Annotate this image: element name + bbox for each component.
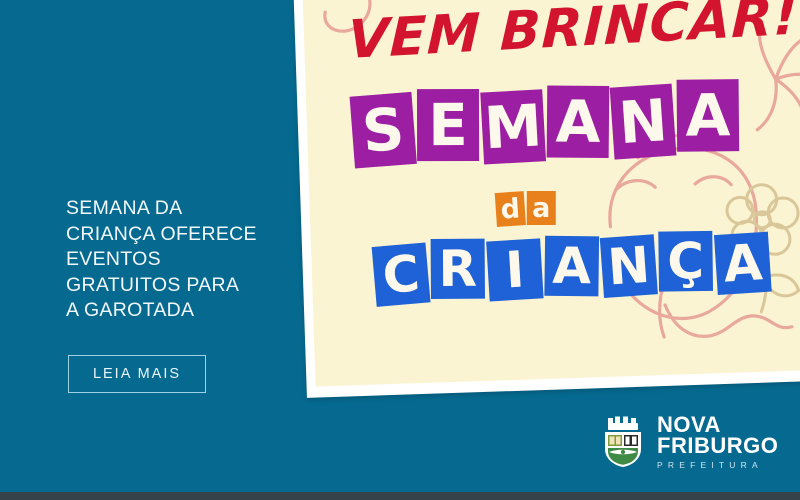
banner-stage: SEMANA DA CRIANÇA OFERECE EVENTOS GRATUI…: [0, 0, 800, 500]
letter-tile: A: [547, 85, 610, 158]
bottom-strip: [0, 492, 800, 500]
brand-subtitle: PREFEITURA: [657, 461, 778, 470]
letter-tile: R: [431, 239, 485, 299]
letter-tile: S: [350, 92, 417, 169]
poster-face: VEM BRINCAR! S E M A N A d a C R I A: [302, 0, 800, 387]
letter-tile: Ç: [658, 231, 713, 292]
promo-headline: SEMANA DA CRIANÇA OFERECE EVENTOS GRATUI…: [66, 196, 281, 324]
poster-artwork[interactable]: VEM BRINCAR! S E M A N A d a C R I A: [293, 0, 800, 398]
letter-tile: C: [372, 242, 431, 306]
letter-tile: A: [544, 236, 599, 297]
word-crianca: C R I A N Ç A: [373, 229, 771, 302]
leia-mais-button[interactable]: LEIA MAIS: [68, 355, 206, 393]
brand-name-line2: FRIBURGO: [657, 435, 778, 456]
letter-tile: a: [527, 191, 556, 225]
letter-tile: E: [417, 89, 479, 161]
word-semana: S E M A N A: [351, 80, 740, 165]
brand-name-line1: NOVA: [657, 414, 778, 435]
poster-tagline: VEM BRINCAR!: [347, 0, 789, 71]
letter-tile: A: [714, 232, 772, 295]
brand-wordmark: NOVA FRIBURGO PREFEITURA: [657, 414, 778, 470]
letter-tile: N: [600, 234, 658, 298]
brand-lockup[interactable]: NOVA FRIBURGO PREFEITURA: [600, 414, 778, 470]
letter-tile: d: [495, 191, 526, 227]
letter-tile: M: [480, 89, 546, 164]
letter-tile: I: [486, 238, 543, 301]
letter-tile: N: [610, 84, 677, 160]
word-da: d a: [495, 191, 556, 227]
letter-tile: A: [677, 79, 740, 152]
nova-friburgo-coat-of-arms-icon: [600, 416, 646, 468]
